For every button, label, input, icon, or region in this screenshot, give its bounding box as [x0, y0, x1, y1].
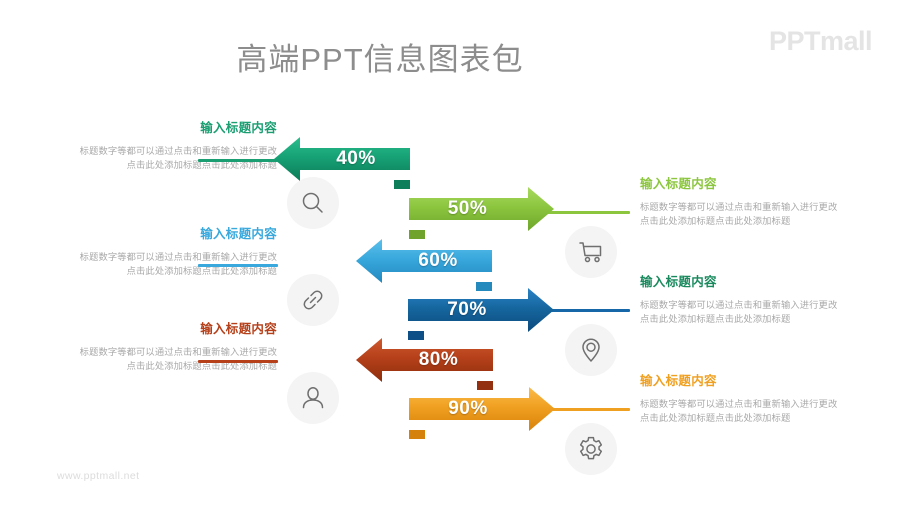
- icon-circle-search[interactable]: [287, 177, 339, 229]
- link-icon: [298, 285, 328, 315]
- right-block-3-title: 输入标题内容: [640, 373, 872, 389]
- arrow-label-60: 60%: [418, 250, 458, 272]
- right-connector-1: [546, 211, 630, 214]
- left-block-1-title: 输入标题内容: [45, 120, 277, 136]
- icon-circle-cart[interactable]: [565, 226, 617, 278]
- watermark: www.pptmall.net: [57, 470, 139, 482]
- slide-canvas: 高端PPT信息图表包 PPTmall www.pptmall.net 输入标题内…: [0, 0, 900, 506]
- arrow-label-90: 90%: [448, 398, 488, 420]
- arrow-bar-80[interactable]: 80%: [356, 337, 493, 383]
- arrow-bar-50[interactable]: 50%: [409, 186, 554, 232]
- right-block-3-body-line2: 点击此处添加标题点击此处添加标题: [640, 412, 872, 426]
- arrow-bar-90[interactable]: 90%: [409, 386, 555, 432]
- icon-circle-gear[interactable]: [565, 423, 617, 475]
- right-block-2-body: 标题数字等都可以通过点击和重新输入进行更改 点击此处添加标题点击此处添加标题: [640, 299, 872, 326]
- right-text-block-2: 输入标题内容 标题数字等都可以通过点击和重新输入进行更改 点击此处添加标题点击此…: [640, 274, 872, 326]
- gear-icon: [576, 434, 606, 464]
- right-block-1-body: 标题数字等都可以通过点击和重新输入进行更改 点击此处添加标题点击此处添加标题: [640, 201, 872, 228]
- right-block-1-title: 输入标题内容: [640, 176, 872, 192]
- left-block-3-body-line1: 标题数字等都可以通过点击和重新输入进行更改: [45, 346, 277, 360]
- arrow-bar-60[interactable]: 60%: [356, 238, 492, 284]
- right-block-2-body-line2: 点击此处添加标题点击此处添加标题: [640, 313, 872, 327]
- arrow-label-40: 40%: [336, 148, 376, 170]
- right-block-2-body-line1: 标题数字等都可以通过点击和重新输入进行更改: [640, 299, 872, 313]
- right-block-1-body-line2: 点击此处添加标题点击此处添加标题: [640, 215, 872, 229]
- arrow-bar-70[interactable]: 70%: [408, 287, 554, 333]
- right-connector-3: [546, 408, 630, 411]
- left-connector-2: [198, 264, 278, 267]
- left-text-block-1: 输入标题内容 标题数字等都可以通过点击和重新输入进行更改 点击此处添加标题点击此…: [45, 120, 277, 172]
- arrow-label-70: 70%: [447, 299, 487, 321]
- arrow-label-50: 50%: [448, 198, 488, 220]
- page-title: 高端PPT信息图表包: [0, 34, 900, 79]
- left-connector-1: [198, 159, 278, 162]
- right-block-3-body-line1: 标题数字等都可以通过点击和重新输入进行更改: [640, 398, 872, 412]
- icon-circle-link[interactable]: [287, 274, 339, 326]
- icon-circle-map-pin[interactable]: [565, 324, 617, 376]
- left-block-2-body-line1: 标题数字等都可以通过点击和重新输入进行更改: [45, 251, 277, 265]
- arrow-bar-40[interactable]: 40%: [274, 136, 410, 182]
- icon-circle-user[interactable]: [287, 372, 339, 424]
- right-text-block-3: 输入标题内容 标题数字等都可以通过点击和重新输入进行更改 点击此处添加标题点击此…: [640, 373, 872, 425]
- right-text-block-1: 输入标题内容 标题数字等都可以通过点击和重新输入进行更改 点击此处添加标题点击此…: [640, 176, 872, 228]
- left-connector-3: [198, 360, 278, 363]
- brand-logo: PPTmall: [769, 26, 872, 57]
- left-block-2-title: 输入标题内容: [45, 226, 277, 242]
- right-block-1-body-line1: 标题数字等都可以通过点击和重新输入进行更改: [640, 201, 872, 215]
- left-block-1-body-line1: 标题数字等都可以通过点击和重新输入进行更改: [45, 145, 277, 159]
- cart-icon: [576, 237, 606, 267]
- arrow-label-80: 80%: [419, 349, 459, 371]
- user-icon: [298, 383, 328, 413]
- left-text-block-3: 输入标题内容 标题数字等都可以通过点击和重新输入进行更改 点击此处添加标题点击此…: [45, 321, 277, 373]
- left-block-2-body-line2: 点击此处添加标题点击此处添加标题: [45, 265, 277, 279]
- left-text-block-2: 输入标题内容 标题数字等都可以通过点击和重新输入进行更改 点击此处添加标题点击此…: [45, 226, 277, 278]
- search-icon: [298, 188, 328, 218]
- right-block-3-body: 标题数字等都可以通过点击和重新输入进行更改 点击此处添加标题点击此处添加标题: [640, 398, 872, 425]
- left-block-3-title: 输入标题内容: [45, 321, 277, 337]
- right-block-2-title: 输入标题内容: [640, 274, 872, 290]
- map-pin-icon: [576, 335, 606, 365]
- right-connector-2: [546, 309, 630, 312]
